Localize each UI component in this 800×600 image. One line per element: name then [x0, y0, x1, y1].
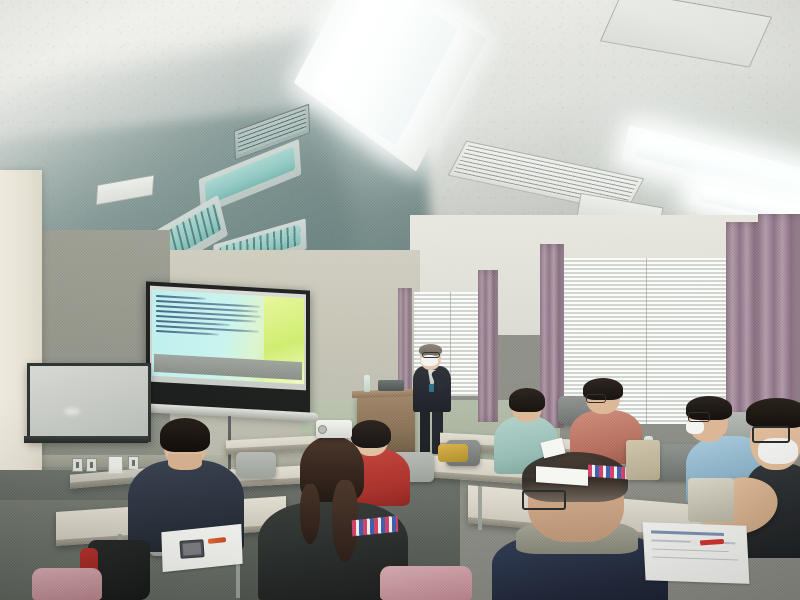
attendee-blue-face-mask: [686, 420, 704, 434]
tote-bag: [626, 440, 660, 480]
projector-lens: [318, 425, 327, 434]
screen-surface: [150, 286, 306, 391]
projection-screen: [146, 281, 310, 418]
yellow-bag: [438, 444, 468, 462]
attendee-grey-glasses: [522, 490, 566, 510]
curtain-far-right: [758, 214, 800, 420]
handheld-device: [179, 539, 204, 559]
water-bottle-lectern: [364, 375, 370, 392]
photo-scene: Seminar / lecture in a meeting room A ma…: [0, 0, 800, 600]
presenter-glasses: [422, 352, 440, 358]
tote-bag-right: [688, 478, 734, 522]
slide-text-block: [156, 295, 264, 341]
attendee-blue-glasses: [688, 412, 710, 422]
table-leg-4: [478, 486, 482, 530]
wall-outlet-2: [86, 458, 97, 472]
lectern-equipment: [378, 380, 404, 391]
handout-right: [643, 522, 750, 584]
wall-outlet-1: [72, 458, 83, 472]
pink-chair-cushion-left: [32, 568, 102, 600]
attendee-right-glasses: [752, 426, 790, 443]
projector: [316, 420, 352, 438]
pink-chair-cushion: [380, 566, 472, 600]
attendee-salmon-glasses: [586, 394, 606, 403]
whiteboard-glare: [64, 408, 80, 415]
